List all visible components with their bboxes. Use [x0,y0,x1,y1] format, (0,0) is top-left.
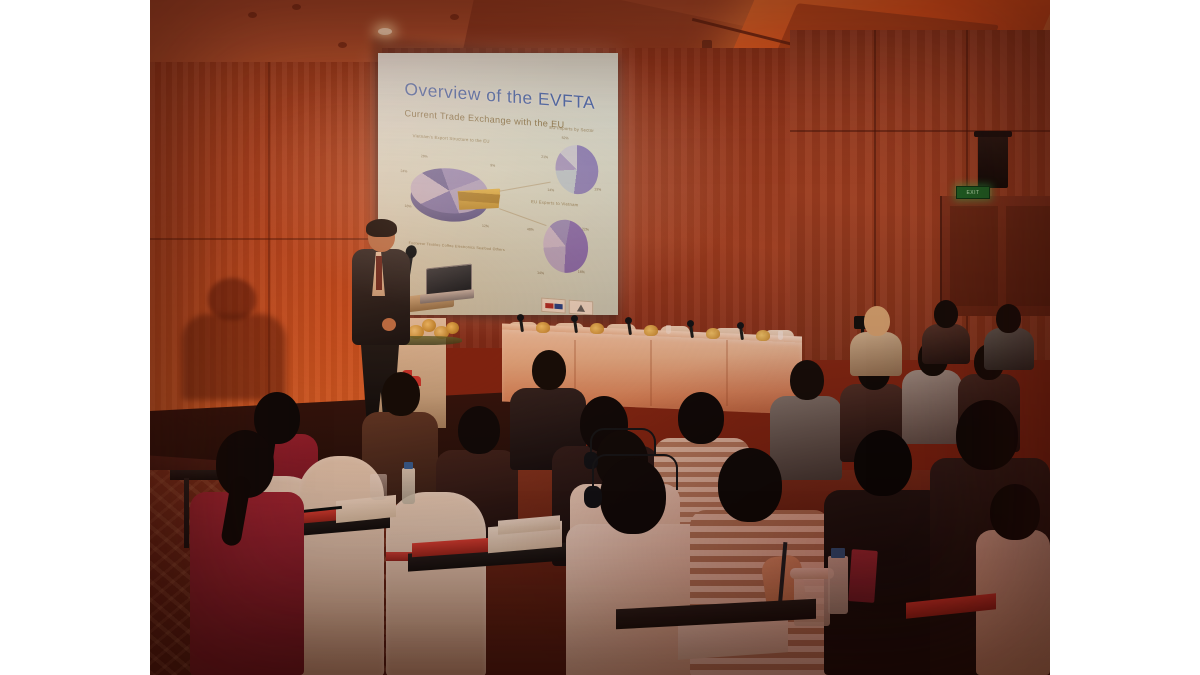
attendee-torso [850,332,902,376]
banquet-chair-cover [386,492,486,675]
water-glass [666,325,671,334]
door-panel [950,206,998,306]
loudspeaker-icon [978,136,1008,188]
table-flower [706,328,720,339]
ceiling-downlight [378,28,392,35]
attendee-head [458,406,500,454]
attendee [850,306,902,376]
mobile-phone[interactable] [848,549,878,603]
attendee-torso [922,324,970,364]
speaker-bracket [974,131,1012,137]
attendee-head [934,300,958,328]
attendee [984,304,1034,370]
attendee-head [996,304,1021,333]
attendee-head [990,484,1040,540]
attendee-torso [984,328,1034,370]
attendee-head [864,306,890,336]
ceiling-vent [338,42,347,48]
attendee-head [382,372,420,416]
table-flower [644,325,658,336]
presenter-hair [366,219,397,237]
exit-sign-label: EXIT [966,190,979,196]
conference-photo: EXIT Overview of the EVFTA Current Trade… [150,0,1050,675]
table-flower [536,322,550,333]
attendee-torso [190,492,304,675]
shadow-body [182,314,286,400]
presenter-laptop[interactable] [420,266,472,308]
ceiling-vent [292,4,301,10]
attendee [186,430,306,675]
water-glass[interactable] [370,474,387,500]
door-panel [1006,206,1050,306]
attendee-head [678,392,724,444]
interpretation-headset[interactable] [592,454,678,490]
ceiling-vent [248,12,257,18]
attendee [922,300,970,364]
ceiling-vent [450,14,459,20]
presenter-tie [376,256,382,290]
bottle-cap [831,548,845,558]
water-bottle[interactable] [828,556,848,614]
water-bottle[interactable] [402,468,415,504]
presenter-hand [382,318,396,331]
attendee-head [718,448,782,522]
attendee-head [532,350,566,390]
exit-sign: EXIT [956,186,990,199]
flower [446,322,459,334]
attendee [976,484,1050,675]
table-flower [756,330,770,341]
bottle-cap [404,462,413,469]
attendee-head [854,430,912,496]
exit-door[interactable] [940,196,1050,316]
attendee-head [956,400,1018,470]
headset-earcup [584,486,602,508]
attendee-head [790,360,824,400]
presenter-shadow [180,278,290,398]
water-glass [778,331,783,340]
table-flower [590,323,604,334]
image-frame: EXIT Overview of the EVFTA Current Trade… [0,0,1200,675]
interpretation-headset[interactable] [590,428,656,456]
